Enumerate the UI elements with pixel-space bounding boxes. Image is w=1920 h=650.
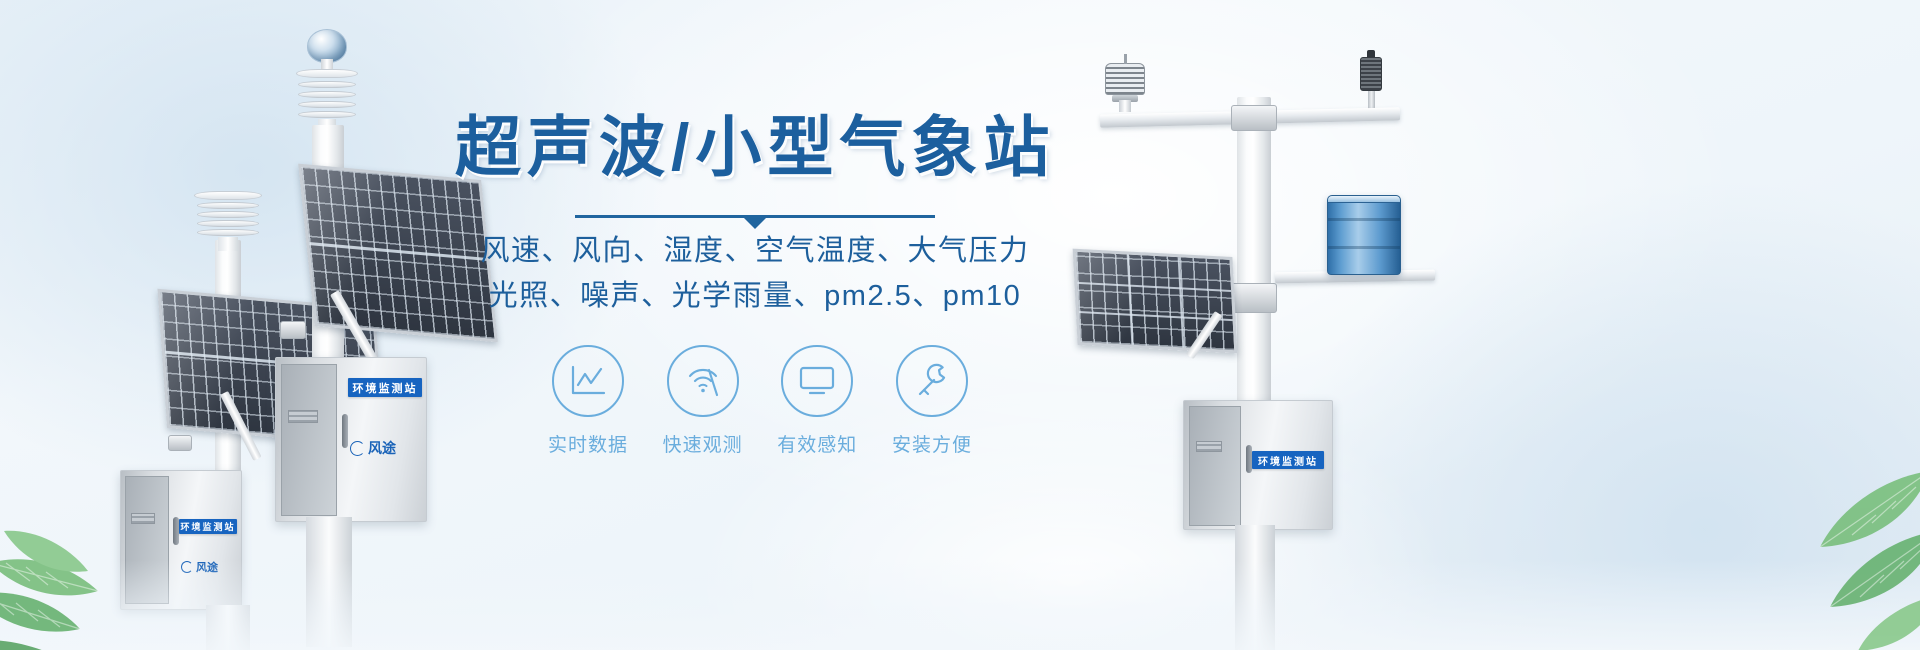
cabinet-tag: 环境监测站 (179, 519, 237, 534)
brand-mark-icon (181, 561, 193, 573)
radiation-shield-sensor (296, 69, 358, 129)
feature-list: 实时数据 快速观测 (540, 345, 980, 457)
optical-rain-gauge (1327, 195, 1401, 275)
feature-icon-circle (896, 345, 968, 417)
banner-text-block: 超声波/小型气象站 风速、风向、湿度、空气温度、大气压力 光照、噪声、光学雨量、… (455, 112, 1055, 319)
brand-name: 风途 (196, 559, 218, 575)
feature-item-fast-observation[interactable]: 快速观测 (655, 345, 751, 457)
feature-label: 有效感知 (769, 430, 865, 457)
brand-mark-icon (350, 441, 365, 456)
dome-sensor (307, 29, 347, 63)
palm-leaf-decoration-right (1680, 435, 1920, 650)
title-divider (575, 215, 935, 229)
equipment-cabinet: 环境监测站 (1183, 400, 1333, 530)
cabinet-tag: 环境监测站 (1252, 451, 1324, 469)
feature-icon-circle (781, 345, 853, 417)
subtitle-line-1: 风速、风向、湿度、空气温度、大气压力 (455, 229, 1055, 274)
radar-signal-icon (683, 362, 723, 400)
brand-name: 风途 (368, 438, 396, 458)
subtitle-line-2: 光照、噪声、光学雨量、pm2.5、pm10 (455, 274, 1055, 319)
wind-vane-sensor (1360, 57, 1382, 91)
product-photo-ultrasonic-weather-station: 环境监测站 (1065, 45, 1485, 650)
palm-leaf-decoration-left (0, 445, 180, 650)
brand-logo: 风途 (350, 438, 396, 458)
product-banner: 环境监测站 风途 (0, 0, 1920, 650)
cabinet-tag: 环境监测站 (348, 378, 422, 397)
feature-icon-circle (552, 345, 624, 417)
feature-item-realtime-data[interactable]: 实时数据 (540, 345, 636, 457)
wrench-icon (912, 361, 952, 401)
feature-icon-circle (667, 345, 739, 417)
page-title: 超声波/小型气象站 (455, 112, 1055, 183)
radiation-shield-sensor (194, 191, 262, 247)
solar-panel (1073, 249, 1238, 354)
ultrasonic-wind-sensor (1105, 63, 1145, 95)
feature-label: 实时数据 (540, 430, 636, 457)
monitor-screen-icon (797, 364, 837, 398)
equipment-cabinet: 环境监测站 风途 (275, 357, 427, 522)
feature-label: 安装方便 (884, 430, 980, 457)
feature-label: 快速观测 (655, 430, 751, 457)
brand-logo: 风途 (181, 559, 218, 575)
chart-line-icon (568, 363, 608, 399)
feature-item-easy-installation[interactable]: 安装方便 (884, 345, 980, 457)
feature-item-effective-sensing[interactable]: 有效感知 (769, 345, 865, 457)
divider-arrow-icon (744, 218, 766, 229)
